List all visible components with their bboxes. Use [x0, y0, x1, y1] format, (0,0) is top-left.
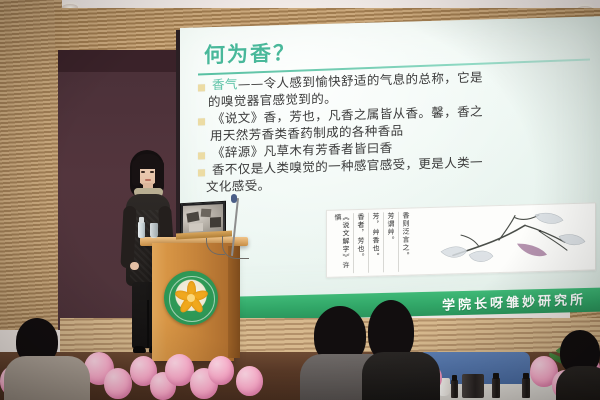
calligraphy-column: 芳谓艸。	[383, 212, 398, 272]
calligraphy-column: 香者，芳也。	[353, 213, 368, 273]
audience-shoulders	[556, 366, 600, 400]
bullet-square-icon	[198, 118, 205, 125]
audience-shoulders	[4, 356, 90, 400]
bullet-square-icon	[198, 152, 205, 159]
calligraphy-column: 芳，艸香也。	[368, 212, 383, 272]
water-bottle-cap	[139, 217, 144, 223]
essential-oil-bottle	[492, 378, 500, 398]
laptop-image-block	[186, 211, 199, 222]
presenter-leg-gap	[147, 300, 149, 348]
calligraphy-columns: 香则泛言之。 芳谓艸。 芳，艸香也。 香者，芳也。 《说文解字》许慎	[331, 211, 413, 273]
laptop-image-block	[201, 209, 212, 218]
microphone-head	[231, 194, 237, 203]
presenter-shoe	[133, 346, 146, 353]
presenter-hand	[130, 262, 139, 270]
balloon	[104, 368, 132, 399]
presenter-eye	[150, 171, 154, 173]
orchid-ink-painting	[439, 208, 589, 270]
emblem-center	[187, 294, 195, 302]
essential-oil-bottle	[451, 380, 458, 398]
bullet-square-icon	[198, 84, 205, 91]
bullet-square-icon	[198, 169, 205, 176]
balloon	[236, 366, 263, 396]
presenter-hair-side	[132, 160, 140, 186]
essential-oil-bottle-cap	[452, 375, 457, 381]
slide-title: 何为香？	[204, 37, 296, 70]
essential-oil-bottle-cap	[523, 373, 529, 379]
presenter-mouth	[145, 179, 151, 181]
essential-oil-bottle-cap	[493, 373, 499, 379]
calligraphy-column: 《说文解字》许慎	[331, 213, 353, 274]
audience-member	[556, 330, 600, 400]
essential-oil-bottle	[522, 378, 530, 398]
presenter-hair-side	[155, 160, 164, 188]
calligraphy-column: 香则泛言之。	[398, 211, 413, 271]
balloon	[208, 356, 234, 385]
drinking-glass	[150, 223, 158, 238]
bullet-line: 文化感受。	[206, 177, 271, 194]
projection-screen: 何为香？ 香气——令人感到愉快舒适的气息的总称，它是 的嗅觉器官感觉到的。 《说…	[180, 16, 600, 316]
podium	[152, 243, 234, 361]
podium-side	[228, 246, 240, 358]
presentation-photo: 何为香？ 香气——令人感到愉快舒适的气息的总称，它是 的嗅觉器官感觉到的。 《说…	[0, 0, 600, 400]
cable	[222, 236, 249, 259]
dark-wall-panel-top	[58, 50, 188, 72]
bullet-keyword: 香气	[212, 76, 238, 92]
presenter-eye	[141, 171, 145, 173]
slide-image-plate: 香则泛言之。 芳谓艸。 芳，艸香也。 香者，芳也。 《说文解字》许慎	[326, 202, 596, 278]
flower-emblem-icon	[164, 271, 218, 325]
water-bottle	[138, 222, 145, 238]
audience-member	[4, 318, 88, 400]
laptop-image-block	[210, 217, 221, 228]
bullet-line: 的嗅觉器官感觉到的。	[208, 91, 337, 110]
banner-text: 学院长呀雏妙研究所	[442, 289, 586, 314]
slide-bullet-list: 香气——令人感到愉快舒适的气息的总称，它是 的嗅觉器官感觉到的。 《说文》香，芳…	[194, 66, 600, 197]
audience-member	[362, 300, 436, 400]
wood-slat-wall-left	[0, 0, 62, 330]
laptop-image-block	[189, 223, 203, 232]
canister	[462, 374, 484, 398]
laptop-screen-content	[183, 204, 223, 234]
audience-shoulders	[362, 352, 440, 400]
